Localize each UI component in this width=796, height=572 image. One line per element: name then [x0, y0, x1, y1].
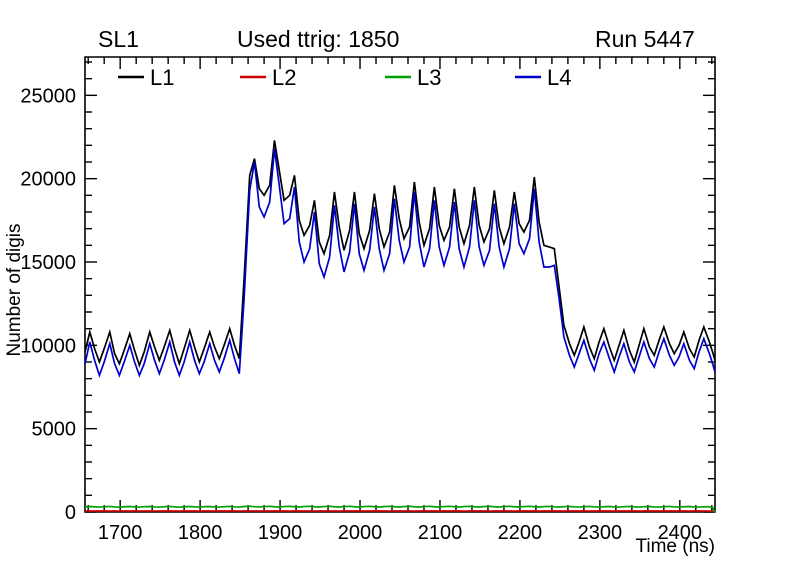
legend-entry-l3[interactable]: L3 [385, 65, 441, 90]
run-label: Run 5447 [595, 26, 695, 52]
legend-label-l4: L4 [547, 65, 571, 90]
x-tick-label: 1700 [98, 522, 143, 544]
y-tick-label: 15000 [20, 252, 76, 274]
legend-label-l3: L3 [417, 65, 441, 90]
chart-canvas: SL1 Used ttrig: 1850 Run 5447 Number of … [0, 0, 796, 572]
chart-legend[interactable]: L1L2L3L4 [118, 65, 571, 90]
x-tick-label: 2400 [658, 522, 703, 544]
plot-frame [85, 57, 715, 512]
y-tick-label: 0 [65, 502, 76, 524]
x-tick-label: 2200 [498, 522, 543, 544]
series-line-l1 [85, 140, 715, 365]
y-tick-label: 25000 [20, 85, 76, 107]
x-tick-label: 2000 [338, 522, 383, 544]
legend-entry-l1[interactable]: L1 [118, 65, 174, 90]
legend-entry-l4[interactable]: L4 [515, 65, 571, 90]
x-axis-ticks: 17001800190020002100220023002400 [88, 57, 712, 544]
x-tick-label: 2300 [578, 522, 623, 544]
y-tick-label: 20000 [20, 169, 76, 191]
legend-label-l1: L1 [150, 65, 174, 90]
legend-entry-l2[interactable]: L2 [240, 65, 296, 90]
y-tick-label: 5000 [32, 419, 77, 441]
series-lines [85, 140, 715, 512]
x-tick-label: 1800 [178, 522, 223, 544]
y-axis-ticks: 0500010000150002000025000 [20, 62, 715, 524]
chart-svg: SL1 Used ttrig: 1850 Run 5447 Number of … [0, 0, 796, 572]
x-tick-label: 1900 [258, 522, 303, 544]
x-tick-label: 2100 [418, 522, 463, 544]
sl-label: SL1 [98, 26, 139, 52]
y-tick-label: 10000 [20, 335, 76, 357]
legend-label-l2: L2 [272, 65, 296, 90]
ttrig-title: Used ttrig: 1850 [237, 26, 399, 52]
